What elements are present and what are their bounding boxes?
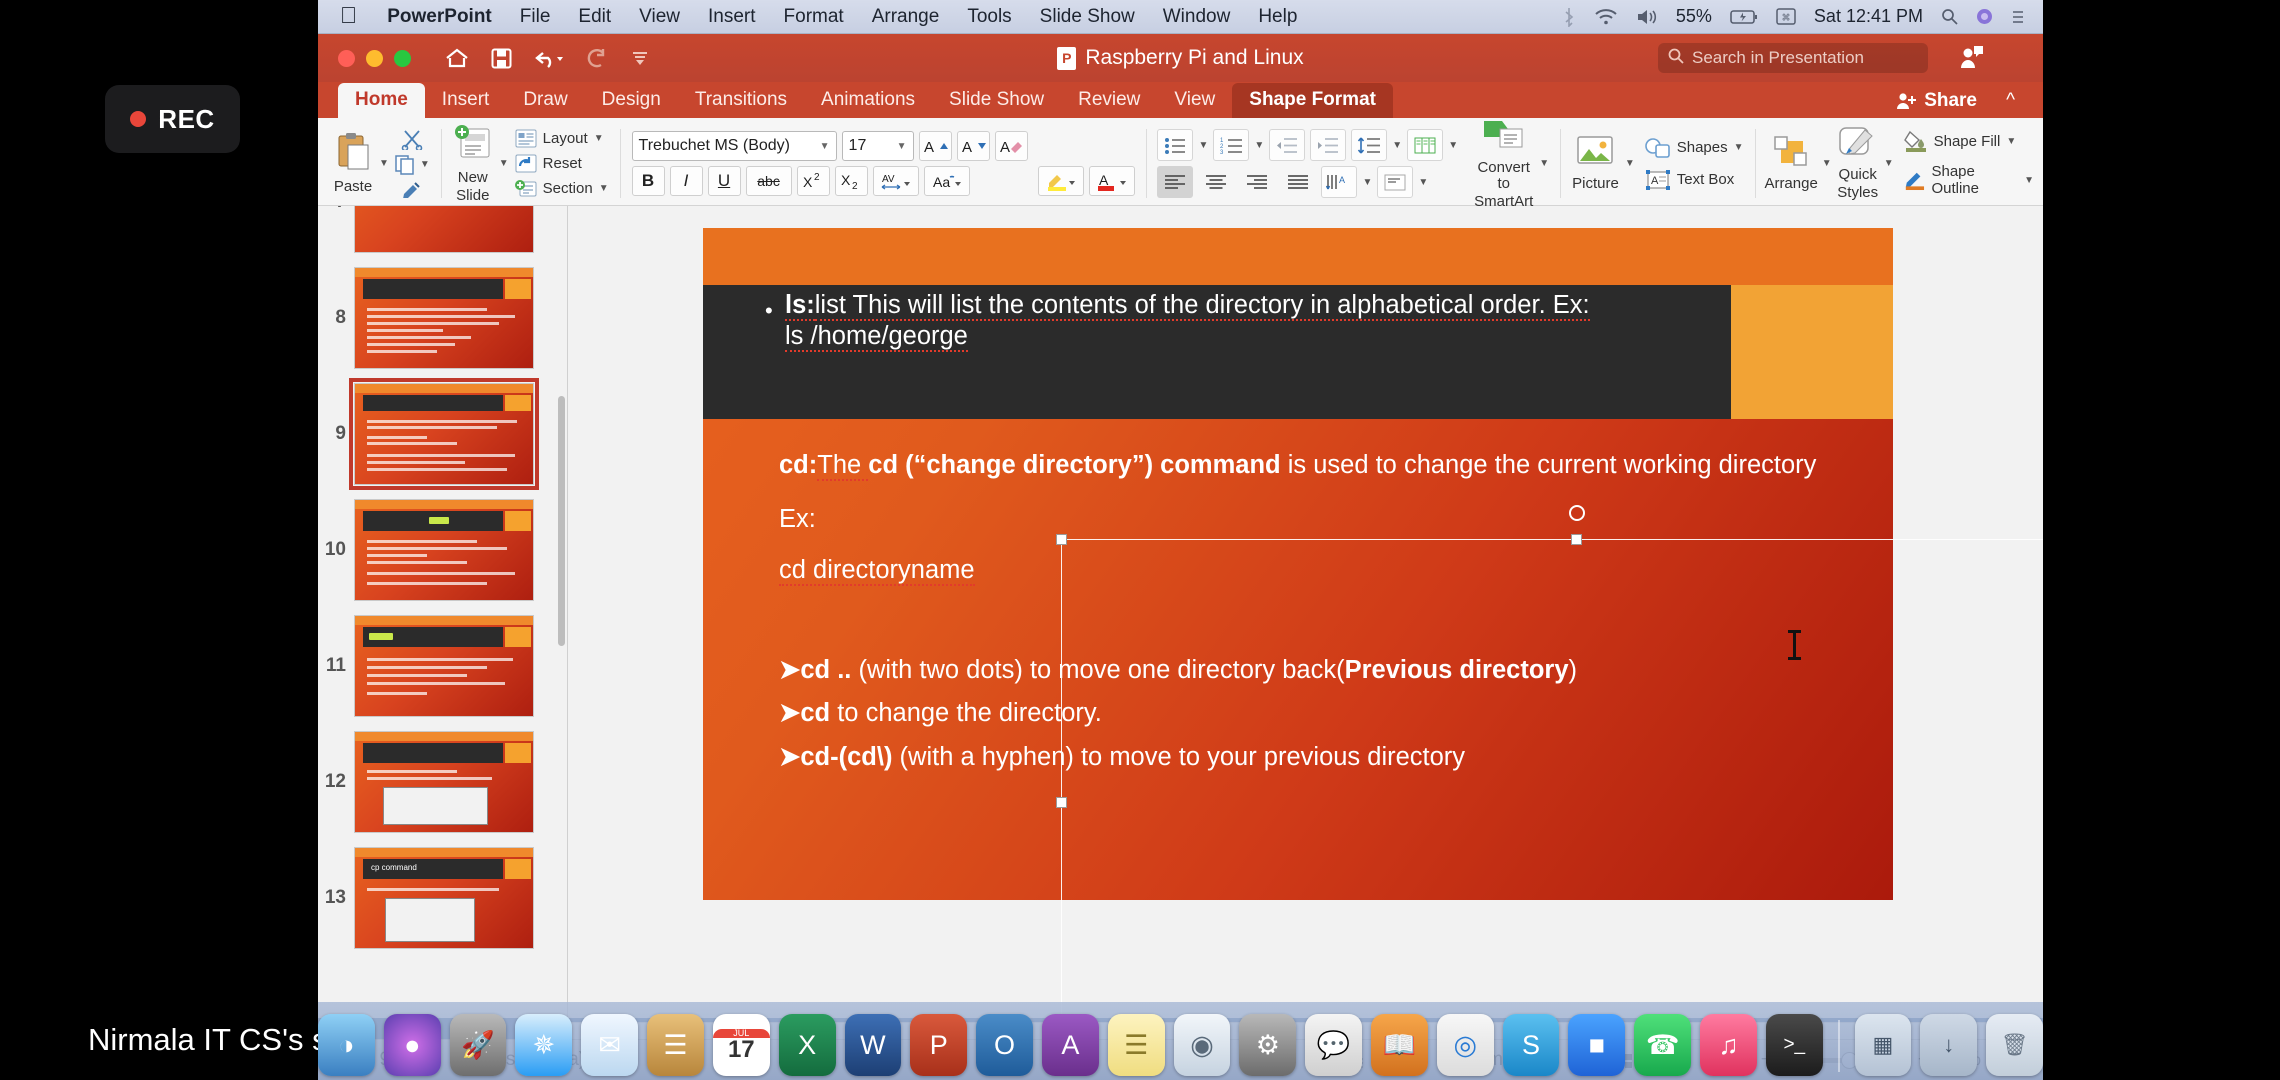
thumbnail-8[interactable]: 8 — [318, 260, 567, 376]
ribbon-toolbar: Paste ▼ ▼ — [318, 118, 2043, 206]
terminal-icon[interactable]: >_ — [1766, 1014, 1823, 1076]
arrange-button[interactable]: Arrange — [1766, 135, 1815, 192]
layout-icon — [515, 129, 537, 148]
thumbnail-number: 7 — [320, 206, 346, 213]
body-paragraph-4: ➤cd .. (with two dots) to move one direc… — [779, 655, 1833, 687]
svg-text:A: A — [1000, 139, 1010, 156]
word-icon[interactable]: W — [845, 1014, 902, 1076]
reset-label: Reset — [543, 155, 582, 172]
svg-text:⌘: ⌘ — [1781, 13, 1790, 23]
battery-icon[interactable] — [1730, 9, 1758, 25]
shrink-font-button[interactable]: A — [957, 131, 990, 161]
svg-text:A: A — [1651, 175, 1659, 187]
grow-font-button[interactable]: A — [919, 131, 952, 161]
svg-text:Aa: Aa — [933, 174, 950, 190]
body-p1-cmd: cd: — [779, 451, 817, 479]
title-line-2: ls /home/george — [785, 322, 968, 352]
line-spacing-button[interactable] — [1351, 129, 1387, 161]
font-color-button[interactable]: A — [1089, 166, 1135, 196]
body-p4-text: (with two dots) to move one directory ba… — [851, 656, 1344, 684]
svg-text:AV: AV — [882, 174, 895, 185]
body-p6-cmd: cd-(cd\) — [800, 743, 892, 771]
text-box-icon: A — [1645, 169, 1671, 191]
collapse-ribbon-icon[interactable]: ^ — [2006, 90, 2015, 112]
quick-styles-label-2: Styles — [1837, 185, 1878, 201]
share-label: Share — [1924, 90, 1977, 112]
shared-mac-screen:  PowerPoint File Edit View Insert Forma… — [318, 0, 2043, 1080]
new-slide-button[interactable]: New Slide — [453, 123, 493, 204]
shape-fill-caret-icon[interactable]: ▼ — [2006, 136, 2016, 147]
tab-design[interactable]: Design — [585, 83, 678, 118]
smartart-caret-icon[interactable]: ▼ — [1539, 158, 1549, 169]
copy-icon[interactable] — [395, 155, 415, 175]
bold-button[interactable]: B — [632, 166, 665, 196]
quick-styles-icon — [1838, 126, 1878, 165]
thumbnail-number: 10 — [320, 539, 346, 561]
volume-icon[interactable] — [1636, 8, 1658, 26]
launchpad-icon[interactable]: 🚀 — [450, 1014, 507, 1076]
new-slide-label-1: New — [458, 170, 488, 186]
body-p5-text: to change the directory. — [830, 699, 1102, 727]
thumbnail-title: cp command — [371, 863, 417, 872]
thumbnail-preview[interactable]: cp command — [354, 847, 534, 949]
change-case-button[interactable]: Aa — [924, 166, 970, 196]
group-clipboard: Paste ▼ ▼ — [324, 122, 439, 205]
record-dot-icon — [130, 111, 146, 127]
redo-icon[interactable] — [586, 48, 608, 69]
ribbon-divider-4 — [1560, 129, 1561, 198]
new-slide-icon — [453, 123, 493, 168]
close-window-button[interactable] — [338, 50, 355, 67]
font-size-combo[interactable]: 17 ▼ — [842, 131, 914, 161]
outlook-icon[interactable]: O — [976, 1014, 1033, 1076]
section-icon — [515, 179, 537, 198]
thumbnail-preview[interactable] — [354, 267, 534, 369]
paragraph-row-2: A ▼ ▼ — [1157, 166, 1458, 198]
menu-tools[interactable]: Tools — [953, 6, 1025, 28]
save-icon[interactable] — [491, 48, 512, 69]
svg-text:X: X — [803, 174, 813, 190]
quick-styles-label-1: Quick — [1839, 167, 1877, 183]
arrange-label: Arrange — [1764, 176, 1817, 192]
thumbnail-number: 13 — [320, 887, 346, 909]
body-p1-the: The — [817, 451, 868, 481]
body-paragraph-6: ➤cd-(cd\) (with a hyphen) to move to you… — [779, 742, 1833, 774]
shape-outline-caret-icon[interactable]: ▼ — [2024, 175, 2034, 186]
menubar-clock[interactable]: Sat 12:41 PM — [1814, 6, 1923, 27]
bullets-caret-icon[interactable]: ▼ — [1198, 140, 1208, 151]
italic-button[interactable]: I — [670, 166, 703, 196]
cut-icon[interactable] — [395, 130, 430, 150]
thumbnail-12[interactable]: 12 — [318, 724, 567, 840]
body-p4-close: ) — [1569, 656, 1578, 684]
convert-to-smartart-button[interactable]: Convert to SmartArt — [1474, 117, 1533, 209]
text-box-button[interactable]: A Text Box — [1645, 169, 1744, 191]
title-cmd: ls: — [785, 291, 815, 321]
arrange-icon — [1772, 135, 1810, 174]
undo-icon[interactable] — [534, 48, 564, 69]
align-text-caret-icon[interactable]: ▼ — [1418, 177, 1428, 188]
current-slide[interactable]: • ls:list This will list the contents of… — [703, 228, 1893, 900]
tab-transitions[interactable]: Transitions — [678, 83, 804, 118]
font-size-caret-icon[interactable]: ▼ — [889, 141, 907, 152]
downloads-icon[interactable]: ↓ — [1920, 1014, 1977, 1076]
slide-top-band — [703, 228, 1893, 286]
group-slides: New Slide ▼ Layout ▼ Reset — [444, 122, 618, 205]
highlight-color-button[interactable] — [1038, 166, 1084, 196]
tab-review[interactable]: Review — [1061, 83, 1157, 118]
wifi-icon[interactable] — [1594, 8, 1618, 26]
shape-fill-icon — [1904, 130, 1928, 152]
powerpoint-file-icon — [1057, 47, 1076, 70]
finder-icon[interactable]: ◑ — [318, 1014, 375, 1076]
siri-icon[interactable]: ● — [384, 1014, 441, 1076]
superscript-button[interactable]: X2 — [797, 166, 830, 196]
tab-animations[interactable]: Animations — [804, 83, 932, 118]
siri-icon[interactable] — [1976, 8, 1993, 25]
stack-icon[interactable]: ▦ — [1855, 1014, 1912, 1076]
align-left-button[interactable] — [1157, 166, 1193, 198]
chrome-icon[interactable]: ◎ — [1437, 1014, 1494, 1076]
slide-thumbnail-pane[interactable]: 7 8 — [318, 206, 568, 1018]
paste-caret-icon[interactable]: ▼ — [379, 158, 389, 169]
mac-dock[interactable]: ◑ ● 🚀 ✵ ✉ ☰ JUL 17 X W P O A ☰ ◉ ⚙ 💬 📖 ◎… — [318, 1002, 2043, 1080]
shapes-icon — [1645, 137, 1671, 159]
svg-text:2: 2 — [814, 172, 820, 183]
menu-insert[interactable]: Insert — [694, 6, 770, 28]
window-controls[interactable] — [318, 50, 411, 67]
menu-file[interactable]: File — [506, 6, 565, 28]
slide-title-text[interactable]: ls:list This will list the contents of t… — [785, 290, 1845, 352]
paste-label: Paste — [334, 179, 372, 195]
body-p6-text: (with a hyphen) to move to your previous… — [892, 743, 1465, 771]
smartart-icon — [1482, 117, 1526, 158]
ribbon-divider-5 — [1755, 129, 1756, 198]
layout-button[interactable]: Layout ▼ — [515, 129, 609, 148]
tab-view[interactable]: View — [1157, 83, 1232, 118]
customize-toolbar-icon[interactable] — [630, 48, 650, 68]
new-slide-caret-icon[interactable]: ▼ — [499, 158, 509, 169]
body-paragraph-5: ➤cd to change the directory. — [779, 698, 1833, 730]
font-name-combo[interactable]: Trebuchet MS (Body) ▼ — [632, 131, 837, 161]
tab-draw[interactable]: Draw — [506, 83, 584, 118]
recording-indicator: REC — [105, 85, 240, 153]
clear-formatting-button[interactable]: A — [995, 131, 1028, 161]
messages-icon[interactable]: 💬 — [1305, 1014, 1362, 1076]
picture-button[interactable]: Picture — [1572, 135, 1619, 192]
title-rest: list This will list the contents of the … — [815, 291, 1590, 321]
thumbnail-preview-current[interactable] — [354, 383, 534, 485]
arrange-caret-icon[interactable]: ▼ — [1822, 158, 1832, 169]
thumbnail-preview[interactable] — [354, 615, 534, 717]
paste-button[interactable]: Paste — [333, 132, 373, 195]
thumbnail-number: 9 — [320, 423, 346, 445]
thumbnail-number: 11 — [320, 655, 346, 677]
paragraph-row-1: ▼ 123 ▼ ▼ — [1157, 129, 1458, 161]
menu-help[interactable]: Help — [1244, 6, 1311, 28]
rec-label: REC — [158, 104, 214, 135]
reset-button[interactable]: Reset — [515, 154, 609, 173]
excel-icon[interactable]: X — [779, 1014, 836, 1076]
thumbnail-number: 8 — [320, 307, 346, 329]
menu-view[interactable]: View — [625, 6, 694, 28]
justify-button[interactable] — [1280, 166, 1316, 198]
powerpoint-icon[interactable]: P — [910, 1014, 967, 1076]
shapes-label: Shapes — [1677, 139, 1728, 156]
group-drawing: Arrange ▼ Quick Styles ▼ Shape Fill ▼ — [1757, 122, 2043, 205]
trash-icon[interactable]: 🗑 — [1986, 1014, 2043, 1076]
subscript-button[interactable]: X2 — [835, 166, 868, 196]
shape-outline-icon — [1904, 169, 1926, 191]
share-button[interactable]: Share — [1897, 90, 1977, 112]
align-text-button[interactable] — [1377, 166, 1413, 198]
body-p4-bold: Previous directory — [1345, 656, 1569, 684]
calendar-icon[interactable]: JUL 17 — [713, 1014, 770, 1076]
system-preferences-icon[interactable]: ⚙ — [1239, 1014, 1296, 1076]
body-p5-cmd: cd — [800, 699, 830, 727]
mac-menu-bar:  PowerPoint File Edit View Insert Forma… — [318, 0, 2043, 34]
svg-text:2: 2 — [852, 181, 858, 190]
quick-styles-caret-icon[interactable]: ▼ — [1884, 158, 1894, 169]
format-painter-icon[interactable] — [395, 180, 430, 198]
body-p1-bold: cd (“change directory”) command — [868, 451, 1280, 479]
zoom-icon[interactable]: ■ — [1568, 1014, 1625, 1076]
group-insert: Picture ▼ Shapes ▼ A Text Box — [1563, 122, 1752, 205]
font-row-1: Trebuchet MS (Body) ▼ 17 ▼ A A — [632, 131, 1028, 161]
font-name-caret-icon[interactable]: ▼ — [812, 141, 830, 152]
whatsapp-icon[interactable]: ☎ — [1634, 1014, 1691, 1076]
svg-text:X: X — [841, 172, 851, 188]
minimize-window-button[interactable] — [366, 50, 383, 67]
ribbon-tab-bar: Home Insert Draw Design Transitions Anim… — [318, 82, 2043, 118]
body-cd-directoryname: cd directoryname — [779, 556, 975, 586]
underline-button[interactable]: U — [708, 166, 741, 196]
quick-access-toolbar — [411, 47, 650, 69]
preview-icon[interactable]: ◉ — [1174, 1014, 1231, 1076]
thumbnail-10[interactable]: 10 — [318, 492, 567, 608]
body-paragraph-cd-dir: cd directoryname — [779, 555, 1833, 587]
tab-slide-show[interactable]: Slide Show — [932, 83, 1061, 118]
thumbnail-number: 12 — [320, 771, 346, 793]
ribbon-divider — [441, 129, 442, 198]
dock-separator — [1838, 1020, 1840, 1072]
layout-label: Layout — [543, 130, 588, 147]
arrow-bullet-icon: ➤ — [779, 656, 800, 684]
paste-icon — [335, 132, 371, 177]
ribbon-divider-3 — [1146, 129, 1147, 198]
menu-powerpoint[interactable]: PowerPoint — [373, 6, 506, 28]
svg-text:A: A — [924, 139, 934, 155]
menu-slide-show[interactable]: Slide Show — [1026, 6, 1149, 28]
control-center-icon[interactable]: ⌘ — [1776, 8, 1796, 25]
body-p4-cmd: cd .. — [800, 656, 851, 684]
picture-caret-icon[interactable]: ▼ — [1625, 158, 1635, 169]
slide-editing-area[interactable]: • ls:list This will list the contents of… — [568, 206, 2043, 1018]
svg-text:A: A — [962, 139, 972, 155]
character-spacing-button[interactable]: AV — [873, 166, 919, 196]
tab-shape-format[interactable]: Shape Format — [1232, 83, 1393, 118]
menu-extras-icon[interactable] — [2011, 9, 2025, 25]
group-font: Trebuchet MS (Body) ▼ 17 ▼ A A — [623, 122, 1144, 205]
itunes-icon[interactable]: ♫ — [1700, 1014, 1757, 1076]
document-title: Raspberry Pi and Linux — [1085, 46, 1303, 70]
strikethrough-button[interactable]: abc — [746, 166, 792, 196]
line-spacing-caret-icon[interactable]: ▼ — [1392, 140, 1402, 151]
workspace: 7 8 — [318, 206, 2043, 1018]
shape-fill-button[interactable]: Shape Fill ▼ — [1904, 130, 2034, 152]
layout-caret-icon[interactable]: ▼ — [594, 133, 604, 144]
group-paragraph: ▼ 123 ▼ ▼ — [1148, 122, 1558, 205]
smartart-label-1: Convert to — [1474, 160, 1533, 192]
screen-share-view: REC Nirmala IT CS's screen  PowerPoint … — [0, 0, 2280, 1080]
decrease-indent-button[interactable] — [1269, 129, 1305, 161]
thumbnail-preview[interactable] — [354, 731, 534, 833]
menu-edit[interactable]: Edit — [564, 6, 625, 28]
svg-text:A: A — [1099, 172, 1109, 188]
align-right-button[interactable] — [1239, 166, 1275, 198]
tab-home[interactable]: Home — [338, 83, 425, 118]
svg-text:3: 3 — [1220, 150, 1224, 154]
home-icon[interactable] — [445, 47, 469, 69]
body-paragraph-1: cd:The cd (“change directory”) command i… — [779, 450, 1833, 482]
section-label: Section — [543, 180, 593, 197]
thumbnail-7[interactable]: 7 — [318, 206, 567, 260]
columns-button[interactable] — [1407, 129, 1443, 161]
thumbnail-preview[interactable] — [354, 499, 534, 601]
tab-insert[interactable]: Insert — [425, 83, 507, 118]
thumbnail-9[interactable]: 9 — [318, 376, 567, 492]
picture-label: Picture — [1572, 176, 1619, 192]
search-in-presentation[interactable] — [1658, 43, 1928, 73]
share-person-icon — [1897, 92, 1917, 110]
powerpoint-title-bar: Raspberry Pi and Linux — [318, 34, 2043, 82]
bullets-button[interactable] — [1157, 129, 1193, 161]
title-bullet-icon: • — [765, 298, 773, 324]
shapes-button[interactable]: Shapes ▼ — [1645, 137, 1744, 159]
body-paragraph-ex: Ex: — [779, 504, 1833, 536]
thumbnail-13[interactable]: 13 cp command — [318, 840, 567, 956]
skype-icon[interactable]: S — [1503, 1014, 1560, 1076]
slide-actions: Layout ▼ Reset Section ▼ — [515, 129, 609, 198]
text-cursor — [1793, 630, 1796, 660]
arrow-bullet-icon-3: ➤ — [779, 743, 800, 771]
search-icon — [1668, 48, 1684, 69]
battery-percent: 55% — [1676, 6, 1712, 27]
safari-icon[interactable]: ✵ — [515, 1014, 572, 1076]
shape-fill-label: Shape Fill — [1934, 133, 2001, 150]
reset-icon — [515, 154, 537, 173]
section-button[interactable]: Section ▼ — [515, 179, 609, 198]
arrow-bullet-icon-2: ➤ — [779, 699, 800, 727]
spotlight-icon[interactable] — [1941, 8, 1958, 25]
text-direction-button[interactable]: A — [1321, 166, 1357, 198]
zoom-window-button[interactable] — [394, 50, 411, 67]
account-person-icon[interactable] — [1959, 44, 1985, 75]
bluetooth-icon[interactable] — [1562, 7, 1576, 27]
new-slide-label-2: Slide — [456, 188, 489, 204]
section-caret-icon[interactable]: ▼ — [599, 183, 609, 194]
align-center-button[interactable] — [1198, 166, 1234, 198]
copy-caret-icon[interactable]: ▼ — [420, 159, 430, 170]
ibooks-icon[interactable]: 📖 — [1371, 1014, 1428, 1076]
font-color-row: A — [1038, 166, 1135, 196]
shape-outline-label: Shape Outline — [1931, 163, 2018, 197]
slide-body-text[interactable]: cd:The cd (“change directory”) command i… — [779, 450, 1833, 778]
body-p1-tail: is used to change the current working di… — [1281, 451, 1817, 479]
font-size-value: 17 — [849, 137, 867, 155]
menu-arrange[interactable]: Arrange — [858, 6, 954, 28]
thumbnail-preview[interactable] — [354, 206, 534, 253]
search-input[interactable] — [1692, 48, 1918, 68]
contacts-icon[interactable]: ☰ — [647, 1014, 704, 1076]
menu-format[interactable]: Format — [770, 6, 858, 28]
font-name-value: Trebuchet MS (Body) — [639, 137, 790, 155]
svg-text:A: A — [1339, 175, 1345, 185]
shapes-caret-icon[interactable]: ▼ — [1734, 142, 1744, 153]
text-direction-caret-icon[interactable]: ▼ — [1362, 177, 1372, 188]
mail-icon[interactable]: ✉ — [581, 1014, 638, 1076]
numbering-button[interactable]: 123 — [1213, 129, 1249, 161]
increase-indent-button[interactable] — [1310, 129, 1346, 161]
body-spacer — [779, 591, 1833, 627]
onenote-icon[interactable]: A — [1042, 1014, 1099, 1076]
clipboard-mini-buttons: ▼ — [395, 130, 430, 198]
numbering-caret-icon[interactable]: ▼ — [1254, 140, 1264, 151]
thumbnail-11[interactable]: 11 — [318, 608, 567, 724]
shape-outline-button[interactable]: Shape Outline ▼ — [1904, 163, 2034, 197]
ribbon-divider-2 — [620, 129, 621, 198]
font-row-2: B I U abc X2 X2 AV — [632, 166, 1028, 196]
quick-styles-button[interactable]: Quick Styles — [1838, 126, 1878, 201]
columns-caret-icon[interactable]: ▼ — [1448, 140, 1458, 151]
text-box-label: Text Box — [1677, 171, 1735, 188]
thumbnail-scrollbar[interactable] — [558, 396, 565, 646]
notes-icon[interactable]: ☰ — [1108, 1014, 1165, 1076]
menu-window[interactable]: Window — [1149, 6, 1245, 28]
apple-menu-icon[interactable]:  — [330, 2, 373, 32]
picture-icon — [1575, 135, 1615, 174]
